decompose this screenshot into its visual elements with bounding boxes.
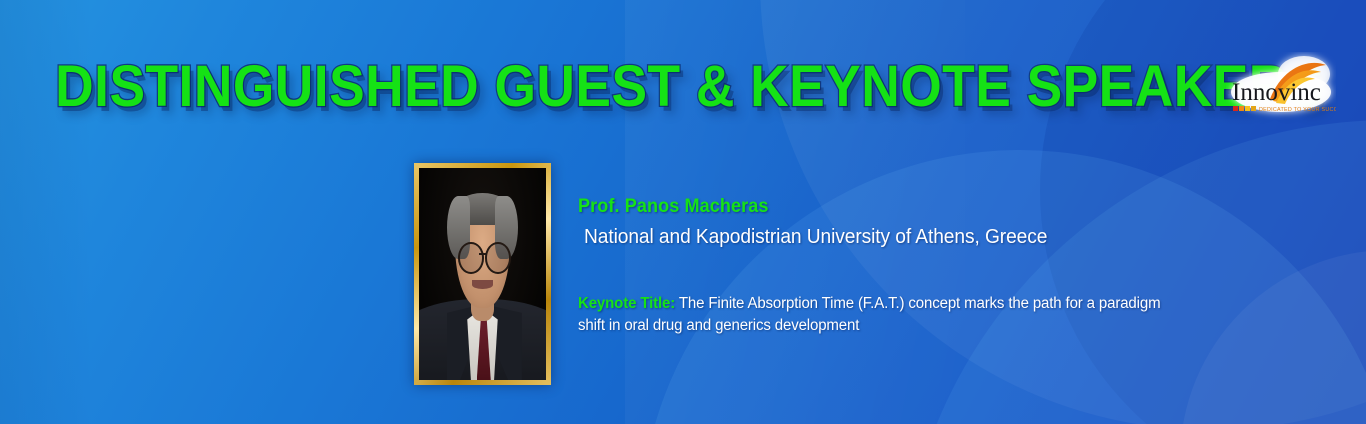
innovinc-logo-icon: Innovinc DEDICATED TO YOUR SUCCESS	[1226, 52, 1336, 120]
speakers-banner: DISTINGUISHED GUEST & KEYNOTE SPEAKERS P…	[0, 0, 1366, 424]
headline-text: DISTINGUISHED GUEST & KEYNOTE SPEAKERS	[55, 56, 1324, 118]
speaker-photo-frame	[414, 163, 551, 385]
keynote-info: Keynote Title: The Finite Absorption Tim…	[578, 293, 1189, 337]
speaker-info: Prof. Panos Macheras National and Kapodi…	[578, 196, 1208, 249]
speaker-affiliation: National and Kapodistrian University of …	[584, 226, 1183, 249]
innovinc-tagline: DEDICATED TO YOUR SUCCESS	[1259, 107, 1336, 113]
background-arc-pale-right	[900, 120, 1366, 424]
innovinc-logo[interactable]: Innovinc DEDICATED TO YOUR SUCCESS	[1226, 52, 1336, 120]
banner-headline: DISTINGUISHED GUEST & KEYNOTE SPEAKERS	[0, 56, 1366, 118]
innovinc-wordmark: Innovinc	[1232, 79, 1321, 106]
keynote-title-label: Keynote Title:	[578, 295, 675, 312]
background-arc-lower-right	[640, 150, 1366, 424]
speaker-photo	[419, 168, 546, 380]
speaker-name: Prof. Panos Macheras	[578, 196, 1177, 218]
background-arc-corner	[1180, 250, 1366, 424]
